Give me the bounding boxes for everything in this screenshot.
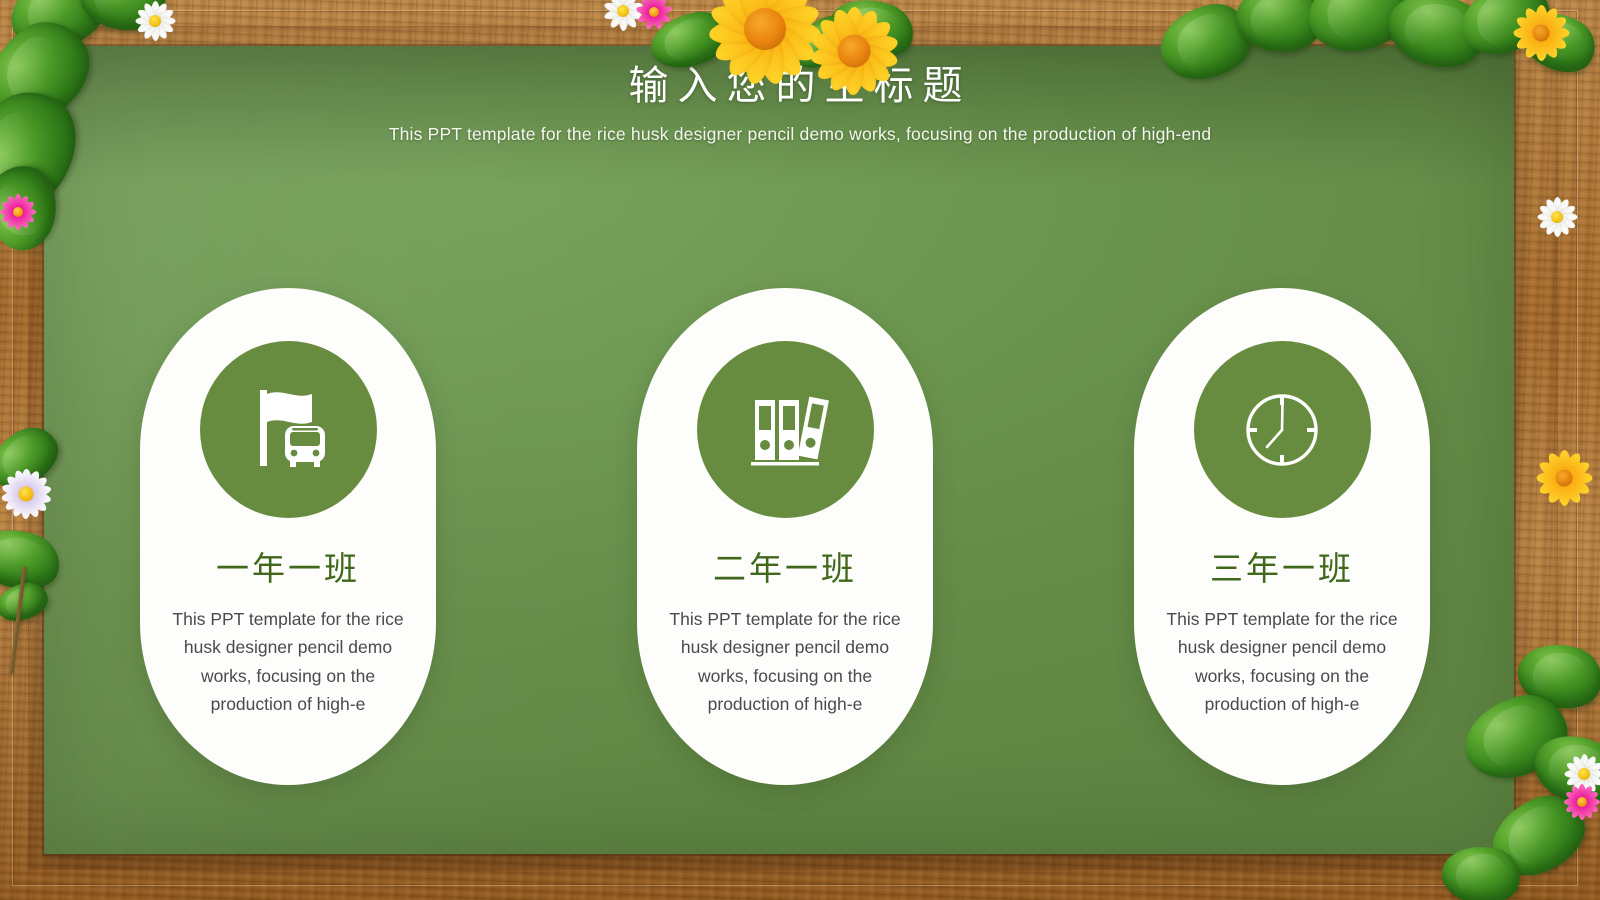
binders-icon [737, 382, 833, 478]
card-body-text: This PPT template for the rice husk desi… [166, 605, 410, 718]
icon-circle [1194, 341, 1371, 518]
cards-row: 一年一班 This PPT template for the rice husk… [140, 288, 1430, 785]
card-title: 二年一班 [713, 552, 857, 585]
icon-circle [200, 341, 377, 518]
card-item[interactable]: 二年一班 This PPT template for the rice husk… [637, 288, 933, 785]
card-body-text: This PPT template for the rice husk desi… [1160, 605, 1404, 718]
icon-circle [697, 341, 874, 518]
flag-bus-icon [240, 382, 336, 478]
card-item[interactable]: 一年一班 This PPT template for the rice husk… [140, 288, 436, 785]
card-title: 一年一班 [216, 552, 360, 585]
clock-icon [1234, 382, 1330, 478]
presentation-slide: 输入您的主标题 This PPT template for the rice h… [0, 0, 1600, 900]
slide-header: 输入您的主标题 This PPT template for the rice h… [0, 62, 1600, 145]
page-subtitle: This PPT template for the rice husk desi… [0, 124, 1600, 145]
card-item[interactable]: 三年一班 This PPT template for the rice husk… [1134, 288, 1430, 785]
card-body-text: This PPT template for the rice husk desi… [663, 605, 907, 718]
card-title: 三年一班 [1210, 552, 1354, 585]
page-title: 输入您的主标题 [0, 62, 1600, 110]
